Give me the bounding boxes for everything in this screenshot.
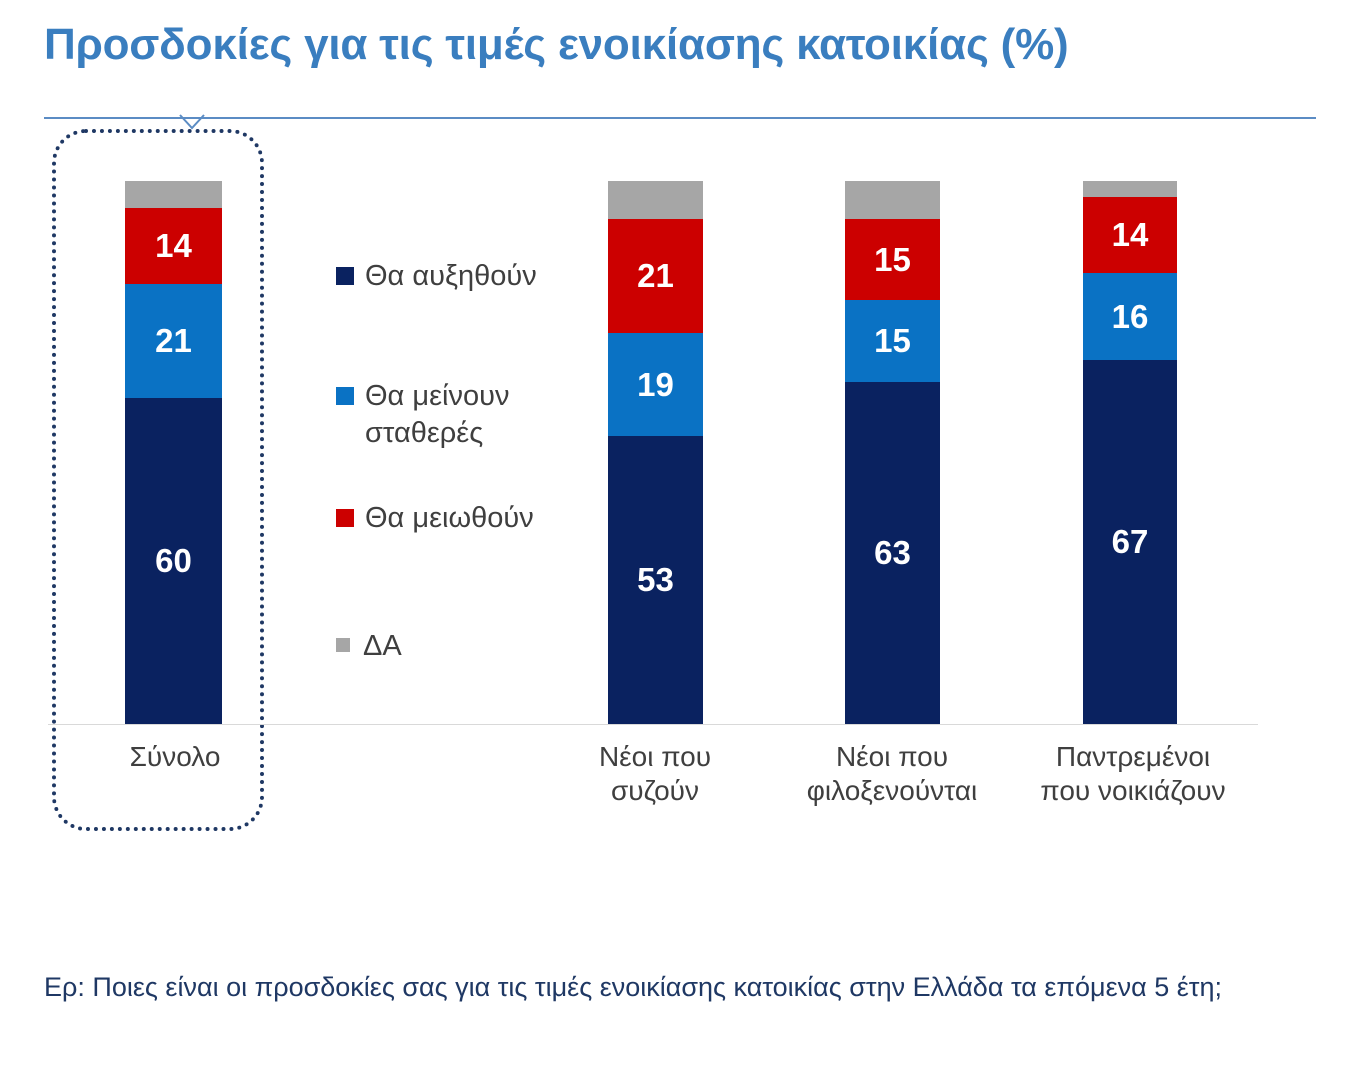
legend-label-stable: Θα μείνουν σταθερές (365, 378, 509, 452)
bar-segment-decrease: 14 (125, 208, 222, 284)
legend-item-no-answer[interactable]: ΔΑ (336, 628, 402, 665)
bar-segment-increase: 60 (125, 398, 222, 724)
bar-column: 631515 (845, 181, 940, 724)
chart-plot-area: 602114Σύνολο531921Νέοι που συζούν631515Ν… (0, 0, 1360, 1078)
bar-segment-value: 15 (874, 241, 911, 279)
legend-label-no-answer: ΔΑ (363, 628, 402, 665)
category-label: Σύνολο (60, 740, 290, 774)
bar-segment-value: 53 (637, 561, 674, 599)
legend-swatch-no-answer-icon (336, 638, 350, 652)
category-label: Νέοι που φιλοξενούνται (772, 740, 1012, 808)
bar-segment-value: 15 (874, 322, 911, 360)
bar-segment-stable: 19 (608, 333, 703, 436)
bar-segment-value: 21 (637, 257, 674, 295)
legend-label-increase: Θα αυξηθούν (365, 258, 537, 295)
legend-swatch-increase-icon (336, 267, 354, 285)
bar-segment-stable: 15 (845, 300, 940, 381)
legend-swatch-stable-icon (336, 387, 354, 405)
bar-segment-no_answer (845, 181, 940, 219)
bar-segment-no_answer (125, 181, 222, 208)
bar-segment-increase: 53 (608, 436, 703, 724)
chart-baseline-axis (48, 724, 1258, 725)
category-label: Νέοι που συζούν (540, 740, 770, 808)
bar-column: 602114 (125, 181, 222, 724)
bar-segment-value: 16 (1112, 298, 1149, 336)
bar-segment-value: 14 (1112, 216, 1149, 254)
bar-segment-increase: 63 (845, 382, 940, 724)
bar-segment-value: 60 (155, 542, 192, 580)
bar-segment-value: 21 (155, 322, 192, 360)
legend-label-decrease: Θα μειωθούν (365, 500, 534, 537)
bar-segment-increase: 67 (1083, 360, 1177, 724)
bar-segment-value: 14 (155, 227, 192, 265)
bar-segment-value: 63 (874, 534, 911, 572)
bar-column: 531921 (608, 181, 703, 724)
bar-segment-stable: 21 (125, 284, 222, 398)
bar-segment-value: 19 (637, 366, 674, 404)
legend-item-decrease[interactable]: Θα μειωθούν (336, 500, 534, 537)
bar-segment-decrease: 14 (1083, 197, 1177, 273)
legend-item-stable[interactable]: Θα μείνουν σταθερές (336, 378, 509, 452)
question-footnote: Ερ: Ποιες είναι οι προσδοκίες σας για τι… (44, 968, 1306, 1006)
bar-segment-value: 67 (1112, 523, 1149, 561)
bar-segment-no_answer (1083, 181, 1177, 197)
bar-segment-decrease: 15 (845, 219, 940, 300)
legend-swatch-decrease-icon (336, 509, 354, 527)
bar-segment-no_answer (608, 181, 703, 219)
legend-item-increase[interactable]: Θα αυξηθούν (336, 258, 537, 295)
bar-segment-stable: 16 (1083, 273, 1177, 360)
bar-segment-decrease: 21 (608, 219, 703, 333)
category-label: Παντρεμένοι που νοικιάζουν (1008, 740, 1258, 808)
bar-column: 671614 (1083, 181, 1177, 724)
